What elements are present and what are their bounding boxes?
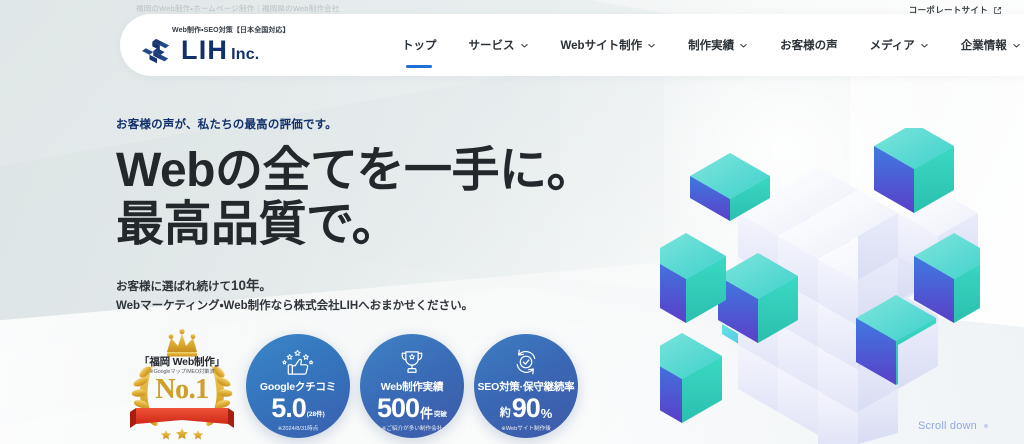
nav-item-service[interactable]: サービス <box>453 14 545 76</box>
stat-value-row: 500 件 突破 <box>377 395 447 422</box>
brand-logo[interactable]: Web制作・SEO対策【日本全国対応】 <box>142 25 332 66</box>
stat-badge-seo-retention[interactable]: SEO対策·保守継続率 約 90 % ※Webサイト制作後 <box>474 334 578 438</box>
stat-label: SEO対策·保守継続率 <box>478 379 575 394</box>
site-header: Web制作・SEO対策【日本全国対応】 <box>120 14 1024 76</box>
stat-superscript: (28件) <box>307 412 325 422</box>
brand-suffix: Inc. <box>231 47 259 63</box>
subcopy-period: 。 <box>260 281 272 293</box>
nav-item-works[interactable]: 制作実績 <box>672 14 764 76</box>
award-rank: No.1 <box>112 374 252 406</box>
hero-headline: Webの全てを一手に。 最高品質で。 <box>116 144 594 252</box>
stat-value: 5.0 <box>271 395 306 422</box>
stat-note: ※2024/8/31時点 <box>278 424 319 432</box>
chevron-down-icon <box>647 41 656 50</box>
stat-prefix: 約 <box>500 408 511 422</box>
lih-logo-mark-icon <box>142 36 172 66</box>
nav-label: メディア <box>870 37 915 53</box>
chevron-down-icon <box>520 41 529 50</box>
corporate-site-link[interactable]: コーポレートサイト <box>909 4 1002 16</box>
hero-copy: お客様の声が、私たちの最高の評価です。 Webの全てを一手に。 最高品質で。 お… <box>116 116 594 317</box>
nav-item-testimonials[interactable]: お客様の声 <box>764 14 854 76</box>
stat-superscript: 突破 <box>434 412 447 422</box>
corporate-site-label: コーポレートサイト <box>909 4 988 16</box>
headline-line-2: 最高品質で。 <box>116 198 594 252</box>
isometric-cube-grid-illustration <box>660 128 980 444</box>
top-utility-bar: 福岡のWeb制作・ホームページ制作｜福岡県のWeb制作会社 コーポレートサイト <box>0 0 1024 22</box>
hero-subcopy: お客様に選ばれ続けて10年。 Webマーケティング・Web制作なら株式会社LIH… <box>116 274 594 318</box>
headline-line-1: Webの全てを一手に。 <box>116 144 594 197</box>
thumbs-up-stars-icon <box>279 347 317 377</box>
hero-kicker: お客様の声が、私たちの最高の評価です。 <box>116 116 594 132</box>
nav-label: 制作実績 <box>688 37 734 53</box>
external-link-icon <box>993 6 1002 15</box>
scroll-down-indicator[interactable]: Scroll down <box>918 420 988 432</box>
chevron-down-icon <box>1012 41 1021 50</box>
stat-note: ※ご紹介が多い制作会社 <box>382 424 443 432</box>
main-navigation: トップ サービス Webサイト制作 制作実績 <box>386 14 1024 76</box>
hero-subcopy-line-2: Webマーケティング・Web制作なら株式会社LIHへおまかせください。 <box>116 297 594 317</box>
brand-name: LIH <box>181 37 228 64</box>
scroll-dot-icon <box>984 424 988 428</box>
stat-value-row: 5.0 (28件) <box>271 395 325 422</box>
stat-badges: Googleクチコミ 5.0 (28件) ※2024/8/31時点 Web制作実… <box>246 334 578 438</box>
nav-label: お客様の声 <box>780 37 838 53</box>
chevron-down-icon <box>739 41 748 50</box>
subcopy-lead: お客様に選ばれ続けて <box>116 281 231 293</box>
nav-label: サービス <box>469 37 515 53</box>
chevron-down-icon <box>920 41 929 50</box>
subcopy-years: 10年 <box>231 278 260 293</box>
nav-label: Webサイト制作 <box>561 37 643 53</box>
nav-item-company[interactable]: 企業情報 <box>945 14 1024 76</box>
stat-badge-google-reviews[interactable]: Googleクチコミ 5.0 (28件) ※2024/8/31時点 <box>246 334 350 438</box>
stat-label: Googleクチコミ <box>260 379 336 394</box>
stat-value: 500 <box>377 395 419 422</box>
stat-note: ※Webサイト制作後 <box>501 424 551 432</box>
nav-label: トップ <box>402 37 437 53</box>
nav-item-media[interactable]: メディア <box>854 14 945 76</box>
nav-item-website-production[interactable]: Webサイト制作 <box>545 14 673 76</box>
site-tagline: 福岡のWeb制作・ホームページ制作｜福岡県のWeb制作会社 <box>136 3 340 14</box>
brand-tagline: Web制作・SEO対策【日本全国対応】 <box>172 25 332 35</box>
stat-badge-projects[interactable]: Web制作実績 500 件 突破 ※ご紹介が多い制作会社 <box>360 334 464 438</box>
scroll-down-label: Scroll down <box>918 420 977 432</box>
trophy-icon <box>397 347 427 377</box>
stat-value-row: 約 90 % <box>500 395 553 422</box>
stat-unit: % <box>541 407 553 422</box>
hero-subcopy-line-1: お客様に選ばれ続けて10年。 <box>116 274 594 298</box>
refresh-check-icon <box>511 347 541 377</box>
nav-item-top[interactable]: トップ <box>386 14 453 76</box>
stat-label: Web制作実績 <box>381 379 444 394</box>
hero-stage: 福岡のWeb制作・ホームページ制作｜福岡県のWeb制作会社 コーポレートサイト … <box>0 0 1024 444</box>
stat-value: 90 <box>512 395 540 422</box>
nav-label: 企業情報 <box>961 37 1007 53</box>
award-badge: 「福岡 Web制作」 ※Googleマップ/MEO対策済 No.1 <box>112 326 252 442</box>
stat-unit: 件 <box>420 407 433 422</box>
